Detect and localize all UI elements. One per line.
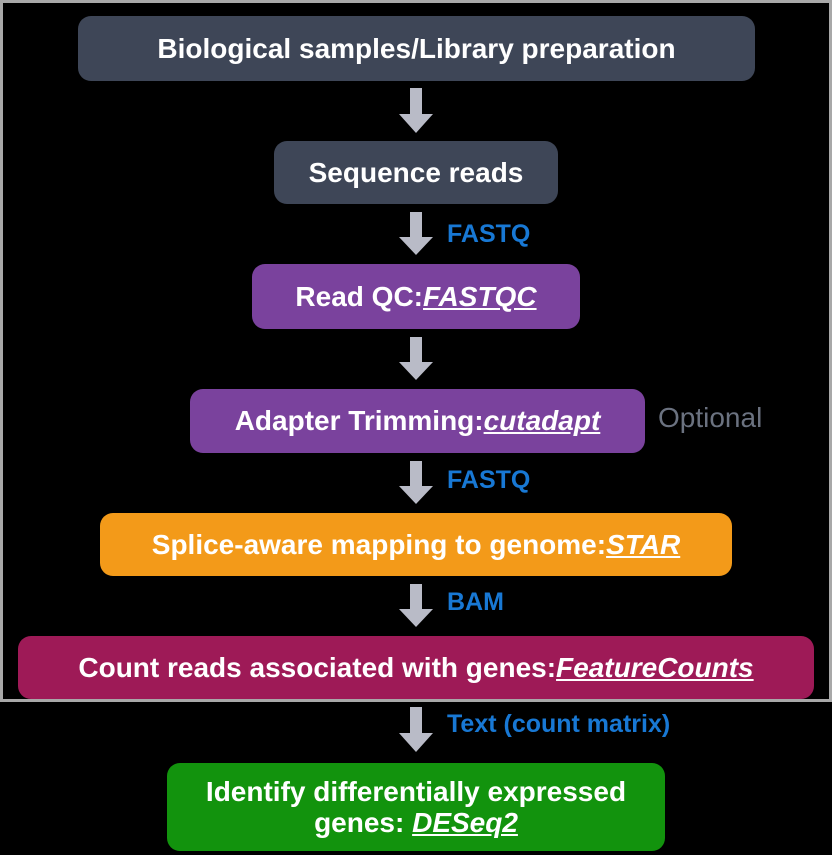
node-biological-samples-label: Biological samples/Library preparation xyxy=(157,33,675,64)
node-count-reads[interactable]: Count reads associated with genes: Featu… xyxy=(18,636,814,699)
node-identify-de-genes-label2: genes: xyxy=(314,807,412,838)
node-splice-aware-mapping[interactable]: Splice-aware mapping to genome: STAR xyxy=(100,513,732,576)
node-splice-aware-mapping-tool[interactable]: STAR xyxy=(606,529,680,560)
arrow-down-icon xyxy=(398,707,434,753)
node-adapter-trimming[interactable]: Adapter Trimming: cutadapt xyxy=(190,389,645,453)
arrow-down-icon xyxy=(398,212,434,256)
edge-label-bam-after-mapping: BAM xyxy=(447,590,504,615)
node-identify-de-genes-tool[interactable]: DESeq2 xyxy=(412,807,518,838)
arrow-down-icon xyxy=(398,337,434,381)
arrow-down-icon xyxy=(398,584,434,628)
diagram-canvas: Biological samples/Library preparation S… xyxy=(0,0,832,855)
node-count-reads-label: Count reads associated with genes: xyxy=(78,652,556,683)
optional-note: Optional xyxy=(658,404,762,432)
node-biological-samples[interactable]: Biological samples/Library preparation xyxy=(78,16,755,81)
node-identify-de-genes-label: Identify differentially expressed xyxy=(206,776,626,807)
node-sequence-reads[interactable]: Sequence reads xyxy=(274,141,558,204)
node-adapter-trimming-tool[interactable]: cutadapt xyxy=(484,405,601,436)
node-count-reads-tool[interactable]: FeatureCounts xyxy=(556,652,754,683)
node-identify-de-genes[interactable]: Identify differentially expressed genes:… xyxy=(167,763,665,851)
node-adapter-trimming-label: Adapter Trimming: xyxy=(235,405,484,436)
node-read-qc-label: Read QC: xyxy=(295,281,423,312)
edge-label-fastq-after-reads: FASTQ xyxy=(447,222,530,247)
workflow-flow: Biological samples/Library preparation S… xyxy=(0,0,832,855)
edge-label-text-count-matrix: Text (count matrix) xyxy=(447,712,670,737)
node-sequence-reads-label: Sequence reads xyxy=(309,157,524,188)
node-read-qc-tool[interactable]: FASTQC xyxy=(423,281,537,312)
node-read-qc[interactable]: Read QC: FASTQC xyxy=(252,264,580,329)
node-identify-de-genes-line2: genes: DESeq2 xyxy=(314,807,518,838)
arrow-down-icon xyxy=(398,88,434,134)
arrow-down-icon xyxy=(398,461,434,505)
node-splice-aware-mapping-label: Splice-aware mapping to genome: xyxy=(152,529,606,560)
edge-label-fastq-after-trimming: FASTQ xyxy=(447,468,530,493)
